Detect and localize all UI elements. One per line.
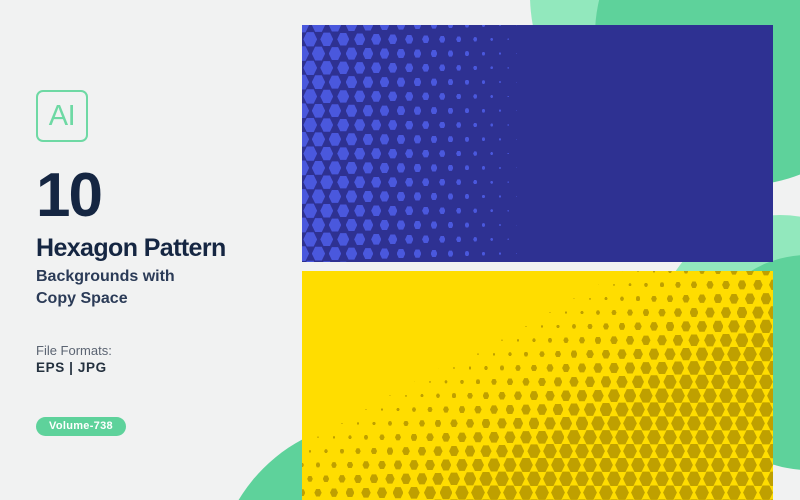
page-subtitle: Backgrounds with Copy Space [36,266,175,309]
poster-canvas: AI 10 Hexagon Pattern Backgrounds with C… [0,0,800,500]
volume-badge: Volume-738 [36,417,126,436]
file-formats-value: EPS | JPG [36,360,107,375]
info-column: AI 10 Hexagon Pattern Backgrounds with C… [36,0,286,500]
page-title: Hexagon Pattern [36,236,226,261]
hexagon-halftone-blue [302,25,773,262]
ai-badge-label: AI [49,102,75,131]
preview-hexagon-yellow[interactable] [302,271,773,500]
ai-file-icon: AI [36,90,88,142]
file-formats-label: File Formats: [36,343,112,358]
pattern-count: 10 [36,165,101,227]
preview-hexagon-blue[interactable] [302,25,773,262]
page-subtitle-line-2: Copy Space [36,288,175,310]
page-subtitle-line-1: Backgrounds with [36,266,175,288]
hexagon-halftone-yellow [302,271,773,500]
